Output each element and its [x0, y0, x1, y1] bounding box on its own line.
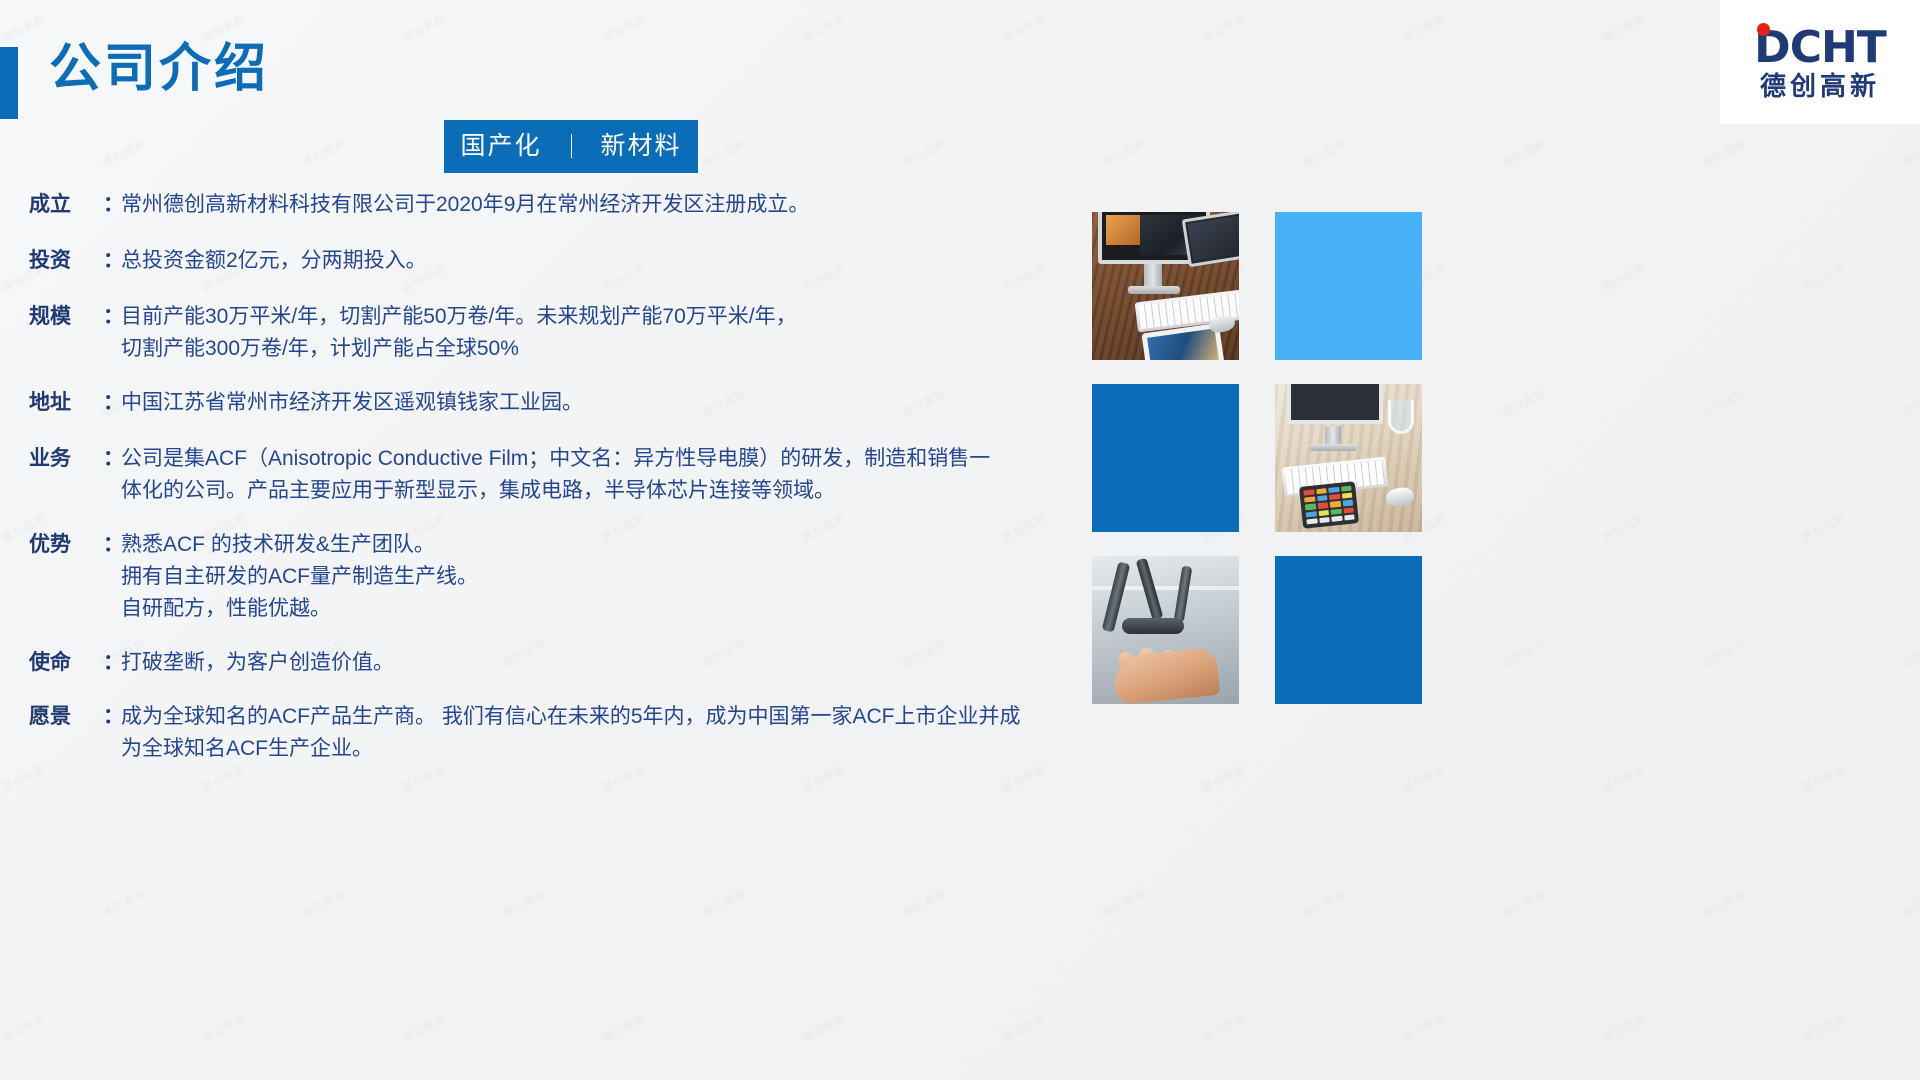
info-row-body: 目前产能30万平米/年，切割产能50万卷/年。未来规划产能70万平米/年， 切割…: [121, 301, 1089, 365]
imac-desk-photo: [1092, 212, 1239, 360]
watermark-text: 德创高新: [499, 885, 549, 921]
watermark-text: 德创高新: [1499, 135, 1549, 171]
info-row-body: 公司是集ACF（Anisotropic Conductive Film；中文名：…: [121, 443, 1089, 507]
laptop-icon: [1182, 212, 1239, 267]
info-row-line: 打破垄断，为客户创造价值。: [121, 647, 1089, 679]
info-row-label: 优势: [29, 529, 103, 561]
watermark-text: 德创高新: [1299, 135, 1349, 171]
logo-wordmark: DCHT: [1754, 26, 1886, 70]
info-row-advantages: 优势 ： 熟悉ACF 的技术研发&生产团队。 拥有自主研发的ACF量产制造生产线…: [29, 529, 1089, 625]
watermark-text: 德创高新: [1199, 10, 1249, 46]
watermark-text: 德创高新: [1899, 885, 1920, 921]
info-row-label: 投资: [29, 245, 103, 277]
info-row-business: 业务 ： 公司是集ACF（Anisotropic Conductive Film…: [29, 443, 1089, 507]
watermark-text: 德创高新: [999, 10, 1049, 46]
office-desk-photo: [1275, 384, 1422, 532]
calculator-icon: [1299, 481, 1359, 529]
info-row-body: 总投资金额2亿元，分两期投入。: [121, 245, 1089, 277]
info-row-vision: 愿景 ： 成为全球知名的ACF产品生产商。 我们有信心在未来的5年内，成为中国第…: [29, 701, 1089, 765]
info-row-line: 总投资金额2亿元，分两期投入。: [121, 245, 1089, 277]
info-row-body: 熟悉ACF 的技术研发&生产团队。 拥有自主研发的ACF量产制造生产线。 自研配…: [121, 529, 1089, 625]
info-row-label: 业务: [29, 443, 103, 475]
tagline-banner-content: 国产化 新材料: [461, 134, 682, 159]
watermark-text: 德创高新: [1099, 135, 1149, 171]
info-row-line: 常州德创高新材料科技有限公司于2020年9月在常州经济开发区注册成立。: [121, 189, 1089, 221]
watermark-text: 德创高新: [1499, 885, 1549, 921]
watermark-text: 德创高新: [1599, 510, 1649, 546]
watermark-text: 德创高新: [799, 10, 849, 46]
image-grid: [1092, 212, 1422, 704]
watermark-text: 德创高新: [1699, 385, 1749, 421]
watermark-text: 德创高新: [1299, 885, 1349, 921]
watermark-text: 德创高新: [1699, 635, 1749, 671]
watermark-text: 德创高新: [899, 135, 949, 171]
glass-cup-icon: [1388, 400, 1414, 434]
monitor-stand: [1144, 264, 1162, 288]
watermark-text: 德创高新: [1399, 1010, 1449, 1046]
watermark-text: 德创高新: [1199, 760, 1249, 796]
tagline-left: 国产化: [461, 132, 542, 160]
info-row-address: 地址 ： 中国江苏省常州市经济开发区遥观镇钱家工业园。: [29, 387, 1089, 419]
watermark-text: 德创高新: [299, 135, 349, 171]
page-title: 公司介绍: [49, 43, 269, 95]
watermark-text: 德创高新: [1699, 135, 1749, 171]
watermark-text: 德创高新: [1899, 385, 1920, 421]
watermark-text: 德创高新: [1599, 260, 1649, 296]
info-row-body: 成为全球知名的ACF产品生产商。 我们有信心在未来的5年内，成为中国第一家ACF…: [121, 701, 1089, 765]
company-logo: DCHT 德创高新: [1720, 0, 1920, 124]
watermark-text: 德创高新: [699, 135, 749, 171]
dark-blue-block-2: [1275, 556, 1422, 704]
watermark-text: 德创高新: [1799, 1010, 1849, 1046]
watermark-text: 德创高新: [99, 135, 149, 171]
info-row-label: 使命: [29, 647, 103, 679]
watermark-text: 德创高新: [1099, 885, 1149, 921]
tagline-right: 新材料: [600, 132, 681, 160]
info-row-colon: ：: [103, 647, 121, 679]
info-row-body: 打破垄断，为客户创造价值。: [121, 647, 1089, 679]
watermark-text: 德创高新: [699, 885, 749, 921]
info-row-investment: 投资 ： 总投资金额2亿元，分两期投入。: [29, 245, 1089, 277]
watermark-text: 德创高新: [1399, 10, 1449, 46]
info-row-line: 中国江苏省常州市经济开发区遥观镇钱家工业园。: [121, 387, 1089, 419]
watermark-text: 德创高新: [1899, 135, 1920, 171]
watermark-text: 德创高新: [1399, 760, 1449, 796]
watermark-text: 德创高新: [1899, 635, 1920, 671]
watermark-text: 德创高新: [599, 10, 649, 46]
info-row-line: 公司是集ACF（Anisotropic Conductive Film；中文名：…: [121, 443, 1089, 475]
info-row-establishment: 成立 ： 常州德创高新材料科技有限公司于2020年9月在常州经济开发区注册成立。: [29, 189, 1089, 221]
watermark-text: 德创高新: [599, 1010, 649, 1046]
info-row-colon: ：: [103, 387, 121, 419]
watermark-text: 德创高新: [399, 10, 449, 46]
watermark-text: 德创高新: [1799, 260, 1849, 296]
info-row-colon: ：: [103, 701, 121, 733]
monitor-stand: [1325, 426, 1341, 446]
info-row-label: 地址: [29, 387, 103, 419]
info-row-line: 熟悉ACF 的技术研发&生产团队。: [121, 529, 1089, 561]
watermark-text: 德创高新: [1499, 385, 1549, 421]
info-row-colon: ：: [103, 443, 121, 475]
info-row-colon: ：: [103, 189, 121, 221]
watermark-text: 德创高新: [299, 885, 349, 921]
logo-wordmark-text: DCHT: [1754, 22, 1886, 73]
light-blue-block: [1275, 212, 1422, 360]
info-row-line: 目前产能30万平米/年，切割产能50万卷/年。未来规划产能70万平米/年，: [121, 301, 1089, 333]
logo-subtitle: 德创高新: [1760, 73, 1880, 99]
info-row-label: 成立: [29, 189, 103, 221]
info-row-scale: 规模 ： 目前产能30万平米/年，切割产能50万卷/年。未来规划产能70万平米/…: [29, 301, 1089, 365]
info-row-line: 自研配方，性能优越。: [121, 593, 1089, 625]
info-row-line: 体化的公司。产品主要应用于新型显示，集成电路，半导体芯片连接等领域。: [121, 475, 1089, 507]
dark-blue-block: [1092, 384, 1239, 532]
info-row-line: 拥有自主研发的ACF量产制造生产线。: [121, 561, 1089, 593]
info-row-colon: ：: [103, 301, 121, 333]
info-row-line: 为全球知名ACF生产企业。: [121, 733, 1089, 765]
info-row-colon: ：: [103, 529, 121, 561]
watermark-text: 德创高新: [799, 1010, 849, 1046]
lab-robot-hand-photo: [1092, 556, 1239, 704]
watermark-text: 德创高新: [399, 1010, 449, 1046]
info-row-line: 成为全球知名的ACF产品生产商。 我们有信心在未来的5年内，成为中国第一家ACF…: [121, 701, 1089, 733]
company-info-list: 成立 ： 常州德创高新材料科技有限公司于2020年9月在常州经济开发区注册成立。…: [29, 189, 1089, 787]
watermark-text: 德创高新: [0, 10, 49, 46]
info-row-body: 常州德创高新材料科技有限公司于2020年9月在常州经济开发区注册成立。: [121, 189, 1089, 221]
watermark-text: 德创高新: [0, 1010, 49, 1046]
watermark-text: 德创高新: [1199, 1010, 1249, 1046]
watermark-text: 德创高新: [899, 885, 949, 921]
watermark-text: 德创高新: [1599, 10, 1649, 46]
watermark-text: 德创高新: [1799, 760, 1849, 796]
watermark-text: 德创高新: [199, 1010, 249, 1046]
info-row-body: 中国江苏省常州市经济开发区遥观镇钱家工业园。: [121, 387, 1089, 419]
tagline-banner: 国产化 新材料: [444, 120, 698, 173]
info-row-colon: ：: [103, 245, 121, 277]
tagline-divider: [571, 134, 572, 158]
imac-monitor-icon: [1287, 384, 1383, 424]
watermark-text: 德创高新: [99, 885, 149, 921]
watermark-text: 德创高新: [1699, 885, 1749, 921]
info-row-label: 愿景: [29, 701, 103, 733]
info-row-line: 切割产能300万卷/年，计划产能占全球50%: [121, 333, 1089, 365]
watermark-text: 德创高新: [1599, 760, 1649, 796]
watermark-text: 德创高新: [1499, 635, 1549, 671]
watermark-text: 德创高新: [999, 1010, 1049, 1046]
monitor-base: [1128, 286, 1180, 294]
title-accent-bar: [0, 47, 18, 119]
logo-red-dot-icon: [1757, 23, 1770, 36]
monitor-base: [1309, 444, 1357, 451]
watermark-text: 德创高新: [1799, 510, 1849, 546]
info-row-label: 规模: [29, 301, 103, 333]
robot-joint: [1122, 618, 1184, 634]
info-row-mission: 使命 ： 打破垄断，为客户创造价值。: [29, 647, 1089, 679]
watermark-text: 德创高新: [1599, 1010, 1649, 1046]
